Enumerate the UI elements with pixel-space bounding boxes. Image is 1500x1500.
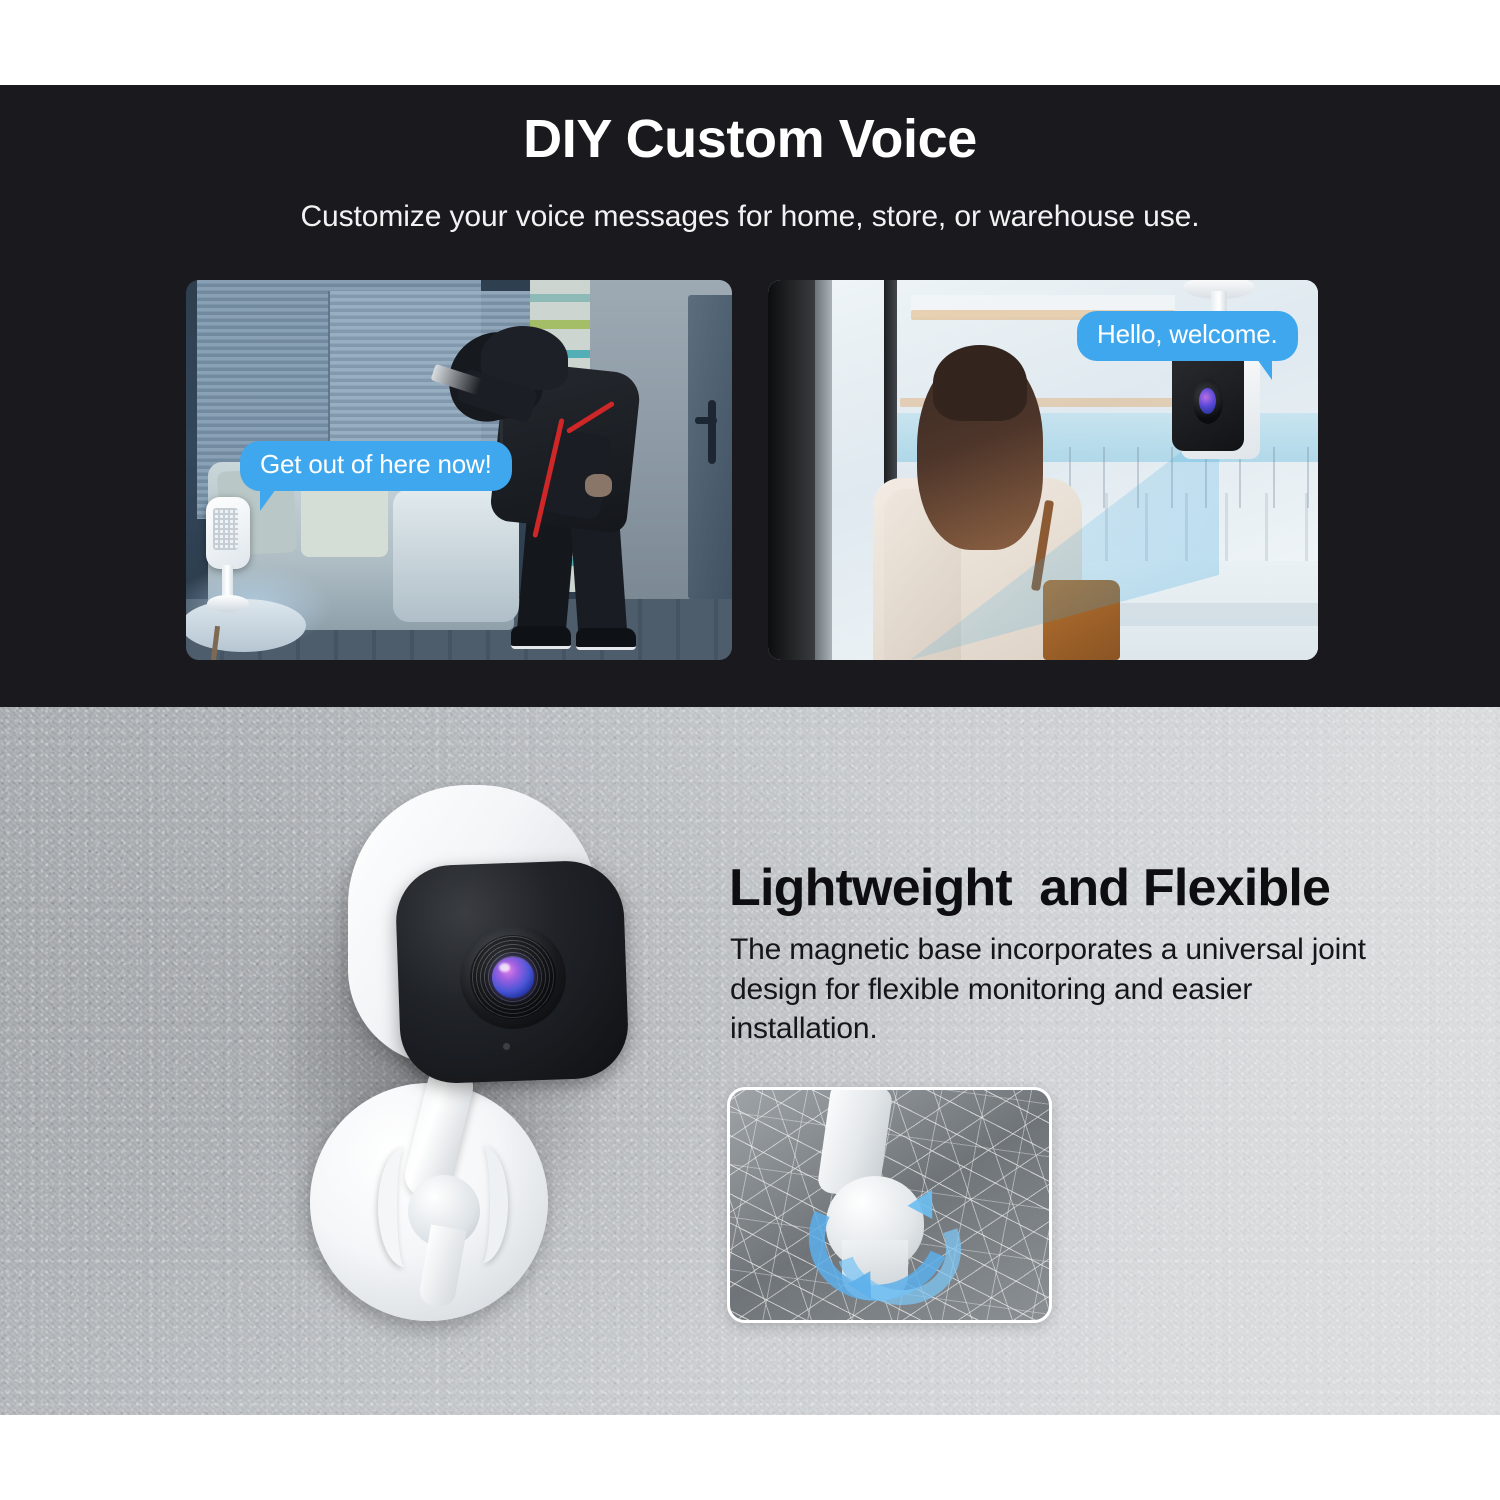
camera-speaker-grille bbox=[213, 508, 238, 550]
diy-custom-voice-section: DIY Custom Voice Customize your voice me… bbox=[0, 85, 1500, 707]
tabletop-camera-stem bbox=[222, 565, 233, 599]
speech-bubble-intruder: Get out of here now! bbox=[240, 441, 512, 491]
intruder-shoe-left bbox=[511, 626, 571, 649]
page-title: DIY Custom Voice bbox=[0, 108, 1500, 170]
feature-title: Lightweight and Flexible bbox=[729, 858, 1469, 918]
intruder-hand bbox=[585, 474, 612, 497]
marketing-page: DIY Custom Voice Customize your voice me… bbox=[0, 0, 1500, 1500]
universal-joint-inset bbox=[727, 1087, 1052, 1323]
door-frame-dark bbox=[768, 280, 815, 660]
intruder-shoe-right bbox=[576, 628, 636, 651]
camera-lens bbox=[492, 957, 534, 998]
door-handle-plate bbox=[708, 400, 716, 465]
wall-camera-product bbox=[300, 775, 700, 1335]
lens-glint bbox=[499, 963, 510, 972]
scenario-photo-row: Get out of here now! bbox=[0, 280, 1500, 665]
page-subtitle: Customize your voice messages for home, … bbox=[0, 200, 1500, 234]
ball-joint-claw-right bbox=[456, 1145, 508, 1263]
scenario-photo-store: Hello, welcome. bbox=[768, 280, 1318, 660]
customer-hair-top bbox=[933, 345, 1027, 421]
speech-bubble-welcome: Hello, welcome. bbox=[1077, 311, 1298, 361]
door-frame-light bbox=[815, 280, 833, 660]
feature-description: The magnetic base incorporates a univers… bbox=[730, 930, 1402, 1049]
scenario-photo-intruder: Get out of here now! bbox=[186, 280, 732, 660]
microphone-icon bbox=[503, 1043, 510, 1050]
